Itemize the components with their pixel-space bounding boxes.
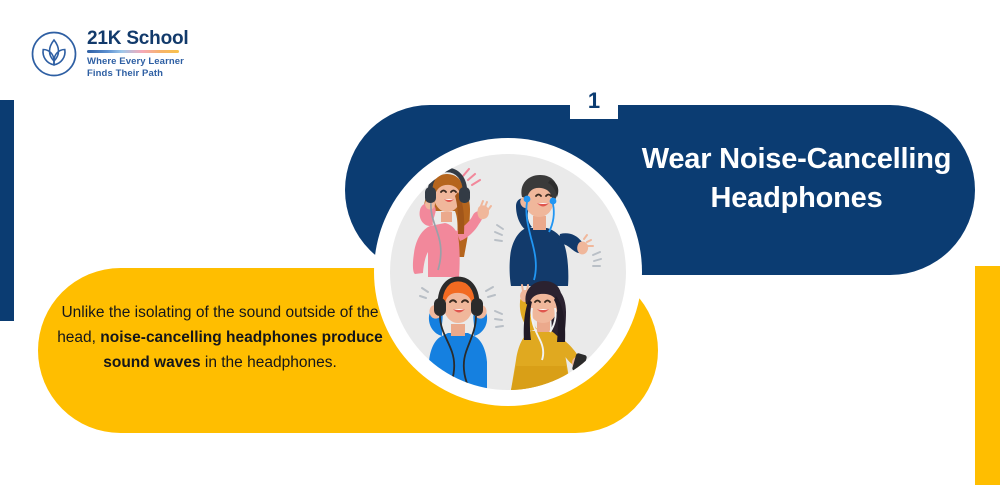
card-body-text: Unlike the isolating of the sound outsid… — [55, 300, 385, 375]
step-number-badge: 1 — [570, 84, 618, 117]
brand-gradient-rule — [87, 50, 179, 53]
card-title: Wear Noise-Cancelling Headphones — [613, 140, 980, 218]
lotus-circle-icon — [30, 30, 78, 78]
illustration-circle — [390, 154, 626, 390]
brand-logo[interactable]: 21K School Where Every Learner Finds The… — [30, 29, 188, 80]
character-boy-navy — [495, 175, 601, 286]
navy-edge-bar — [0, 100, 14, 321]
brand-name: 21K School — [87, 29, 188, 49]
infographic-slide: 21K School Where Every Learner Finds The… — [0, 0, 1000, 500]
body-suffix: in the headphones. — [201, 354, 337, 371]
brand-tagline: Where Every Learner Finds Their Path — [87, 56, 188, 80]
brand-tagline-line2: Finds Their Path — [87, 68, 163, 79]
yellow-edge-bar — [975, 266, 1000, 485]
brand-tagline-line1: Where Every Learner — [87, 56, 184, 67]
brand-logo-text: 21K School Where Every Learner Finds The… — [87, 29, 188, 80]
